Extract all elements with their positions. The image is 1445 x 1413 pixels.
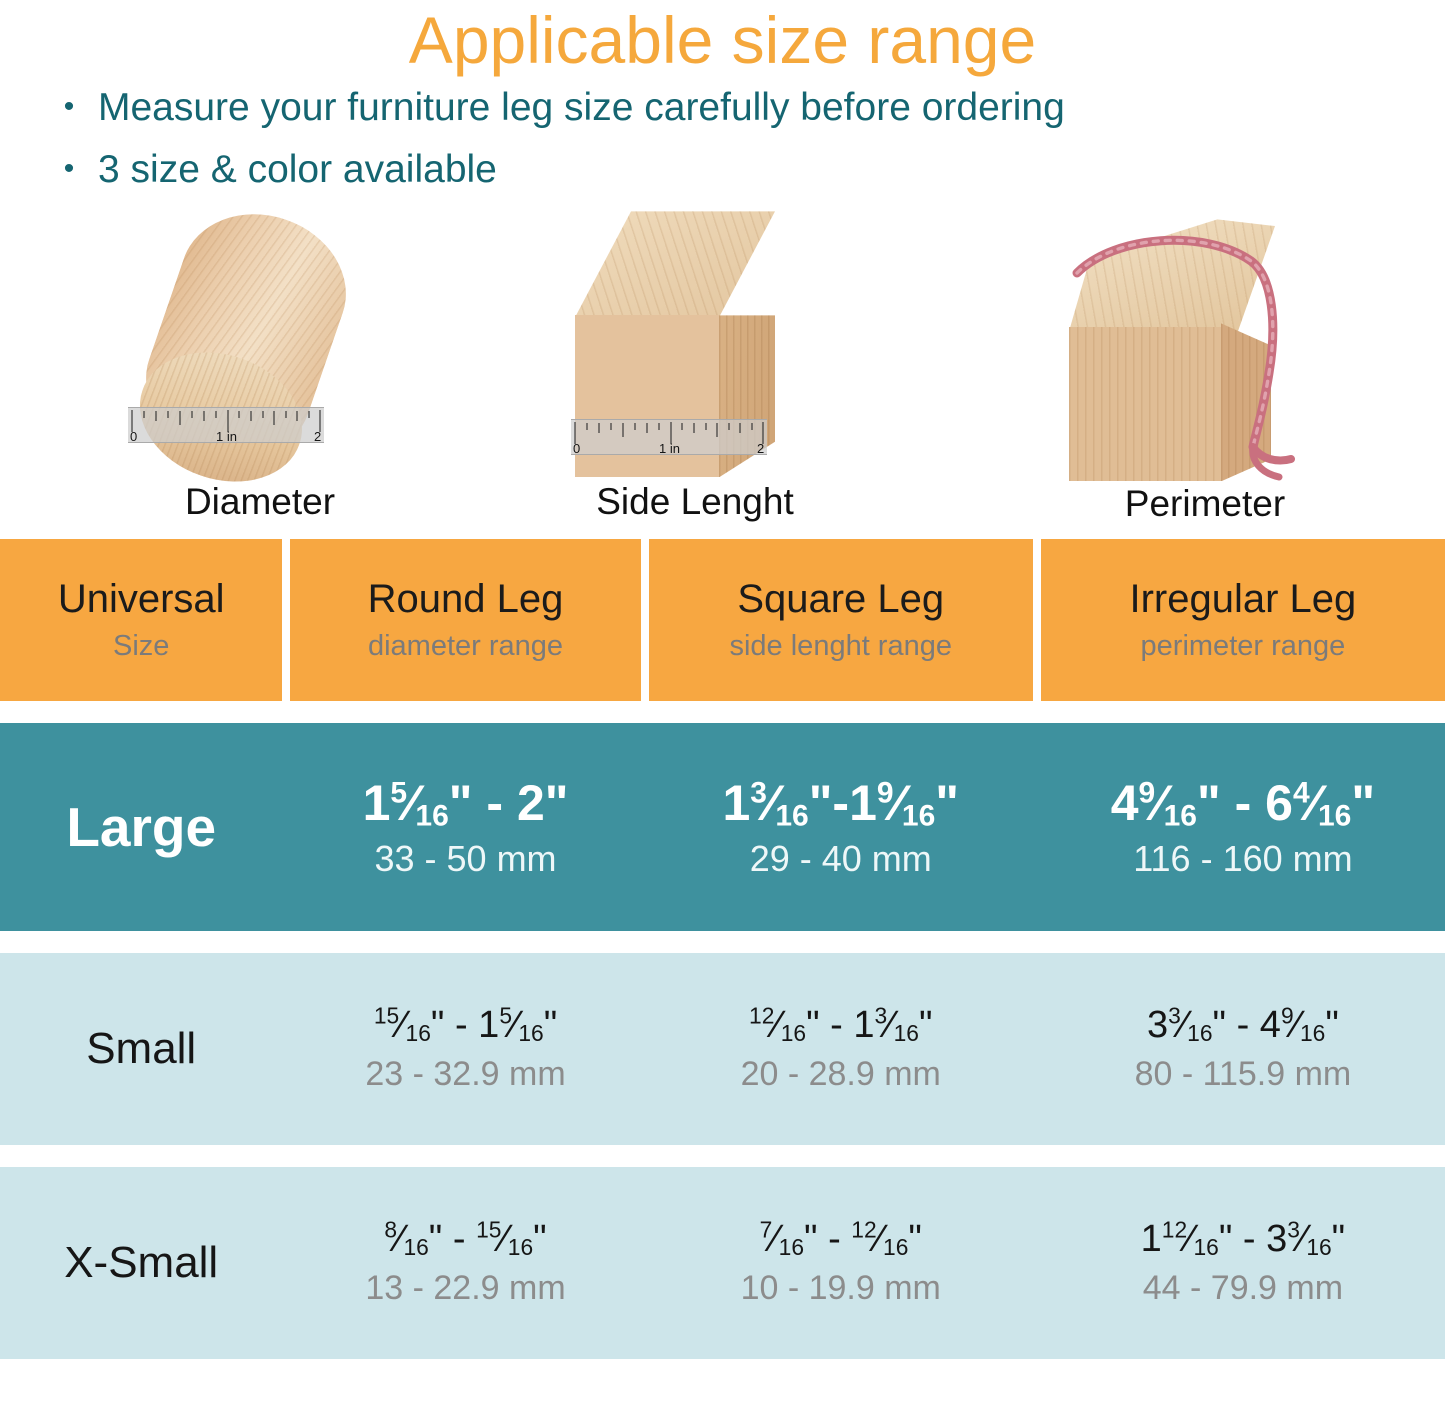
- measurement-mm: 29 - 40 mm: [750, 838, 932, 880]
- header-sub: diameter range: [368, 630, 563, 663]
- ruler-tick-2: 2: [314, 429, 321, 442]
- size-name: X-Small: [64, 1238, 218, 1288]
- table-row: X-Small8⁄16" - 15⁄16"13 - 22.9 mm7⁄16" -…: [0, 1167, 1445, 1359]
- ruler-tick-0: 0: [130, 429, 137, 442]
- measurement-inches: 13⁄16"-19⁄16": [722, 774, 959, 832]
- header-main: Square Leg: [737, 577, 944, 622]
- ruler-icon: 0 1 in 2: [128, 407, 324, 443]
- size-name-cell: Large: [0, 723, 282, 931]
- column-gap: [1033, 953, 1041, 1145]
- measurement-cell: 15⁄16" - 15⁄16"23 - 32.9 mm: [290, 953, 640, 1145]
- measurement-cell: 49⁄16" - 64⁄16"116 - 160 mm: [1041, 723, 1445, 931]
- bullet-text: Measure your furniture leg size carefull…: [80, 85, 1065, 131]
- table-header-row: Universal Size Round Leg diameter range …: [0, 539, 1445, 701]
- illustration-caption: Perimeter: [1055, 483, 1355, 525]
- measurement-cell: 112⁄16" - 33⁄16"44 - 79.9 mm: [1041, 1167, 1445, 1359]
- size-name: Small: [86, 1024, 196, 1074]
- measurement-mm: 33 - 50 mm: [374, 838, 556, 880]
- illustration-round-leg: 0 1 in 2 Diameter: [110, 209, 410, 523]
- column-gap: [641, 953, 649, 1145]
- column-gap: [641, 723, 649, 931]
- column-gap: [641, 539, 649, 701]
- illustration-square-leg: 0 1 in 2 Side Lenght: [565, 205, 825, 523]
- column-gap: [282, 1167, 290, 1359]
- illustration-caption: Diameter: [110, 481, 410, 523]
- measurement-inches: 7⁄16" - 12⁄16": [760, 1218, 922, 1261]
- bullet-item-0: • Measure your furniture leg size carefu…: [0, 85, 1445, 131]
- column-gap: [1033, 723, 1041, 931]
- column-gap: [1033, 1167, 1041, 1359]
- ruler-tick-0: 0: [573, 441, 580, 454]
- size-name: Large: [66, 795, 216, 859]
- illustration-irregular-leg: Perimeter: [1055, 215, 1355, 525]
- ruler-tick-1: 1 in: [659, 441, 680, 454]
- row-gap: [0, 931, 1445, 953]
- header-main: Irregular Leg: [1130, 577, 1357, 622]
- measurement-mm: 13 - 22.9 mm: [365, 1269, 565, 1308]
- ruler-tick-2: 2: [757, 441, 764, 454]
- size-table: Universal Size Round Leg diameter range …: [0, 539, 1445, 1359]
- measurement-mm: 23 - 32.9 mm: [365, 1055, 565, 1094]
- table-header-cell: Round Leg diameter range: [290, 539, 640, 701]
- illustration-caption: Side Lenght: [565, 481, 825, 523]
- measurement-mm: 10 - 19.9 mm: [741, 1269, 941, 1308]
- header-main: Universal: [58, 577, 225, 622]
- measurement-mm: 116 - 160 mm: [1133, 838, 1352, 880]
- measurement-mm: 80 - 115.9 mm: [1135, 1055, 1352, 1094]
- header-sub: perimeter range: [1141, 630, 1346, 663]
- measurement-cell: 15⁄16" - 2"33 - 50 mm: [290, 723, 640, 931]
- bullet-list: • Measure your furniture leg size carefu…: [0, 85, 1445, 193]
- table-header-cell: Square Leg side lenght range: [649, 539, 1033, 701]
- column-gap: [282, 723, 290, 931]
- measurement-mm: 20 - 28.9 mm: [741, 1055, 941, 1094]
- header-sub: side lenght range: [729, 630, 952, 663]
- column-gap: [282, 539, 290, 701]
- block-top-face: [575, 211, 775, 317]
- table-header-cell: Universal Size: [0, 539, 282, 701]
- measurement-cell: 7⁄16" - 12⁄16"10 - 19.9 mm: [649, 1167, 1033, 1359]
- measurement-inches: 15⁄16" - 2": [363, 774, 569, 832]
- header-main: Round Leg: [368, 577, 564, 622]
- row-gap: [0, 701, 1445, 723]
- bullet-marker-icon: •: [58, 85, 80, 129]
- header-sub: Size: [113, 630, 169, 663]
- measurement-inches: 112⁄16" - 33⁄16": [1141, 1218, 1346, 1261]
- row-gap: [0, 1145, 1445, 1167]
- size-name-cell: Small: [0, 953, 282, 1145]
- column-gap: [1033, 539, 1041, 701]
- column-gap: [641, 1167, 649, 1359]
- measurement-mm: 44 - 79.9 mm: [1143, 1269, 1343, 1308]
- irregular-leg-icon: [1055, 215, 1355, 483]
- measurement-cell: 33⁄16" - 49⁄16"80 - 115.9 mm: [1041, 953, 1445, 1145]
- table-row: Large15⁄16" - 2"33 - 50 mm13⁄16"-19⁄16"2…: [0, 723, 1445, 931]
- table-header-cell: Irregular Leg perimeter range: [1041, 539, 1445, 701]
- measurement-inches: 8⁄16" - 15⁄16": [384, 1218, 546, 1261]
- measurement-cell: 13⁄16"-19⁄16"29 - 40 mm: [649, 723, 1033, 931]
- column-gap: [282, 953, 290, 1145]
- measurement-inches: 49⁄16" - 64⁄16": [1111, 774, 1375, 832]
- square-leg-icon: 0 1 in 2: [565, 205, 825, 481]
- measurement-inches: 12⁄16" - 13⁄16": [749, 1004, 932, 1047]
- measurement-inches: 33⁄16" - 49⁄16": [1147, 1004, 1339, 1047]
- ruler-tick-1: 1 in: [216, 429, 237, 442]
- measurement-cell: 8⁄16" - 15⁄16"13 - 22.9 mm: [290, 1167, 640, 1359]
- round-leg-icon: 0 1 in 2: [110, 209, 410, 481]
- measuring-string-icon: [1055, 215, 1355, 483]
- table-row: Small15⁄16" - 15⁄16"23 - 32.9 mm12⁄16" -…: [0, 953, 1445, 1145]
- page-title: Applicable size range: [0, 0, 1445, 75]
- bullet-item-1: • 3 size & color available: [0, 147, 1445, 193]
- table-body: Large15⁄16" - 2"33 - 50 mm13⁄16"-19⁄16"2…: [0, 723, 1445, 1359]
- bullet-marker-icon: •: [58, 147, 80, 191]
- measurement-inches: 15⁄16" - 15⁄16": [374, 1004, 557, 1047]
- measurement-cell: 12⁄16" - 13⁄16"20 - 28.9 mm: [649, 953, 1033, 1145]
- ruler-icon: 0 1 in 2: [571, 419, 767, 455]
- bullet-text: 3 size & color available: [80, 147, 497, 193]
- illustration-strip: 0 1 in 2 Diameter: [0, 209, 1445, 539]
- size-name-cell: X-Small: [0, 1167, 282, 1359]
